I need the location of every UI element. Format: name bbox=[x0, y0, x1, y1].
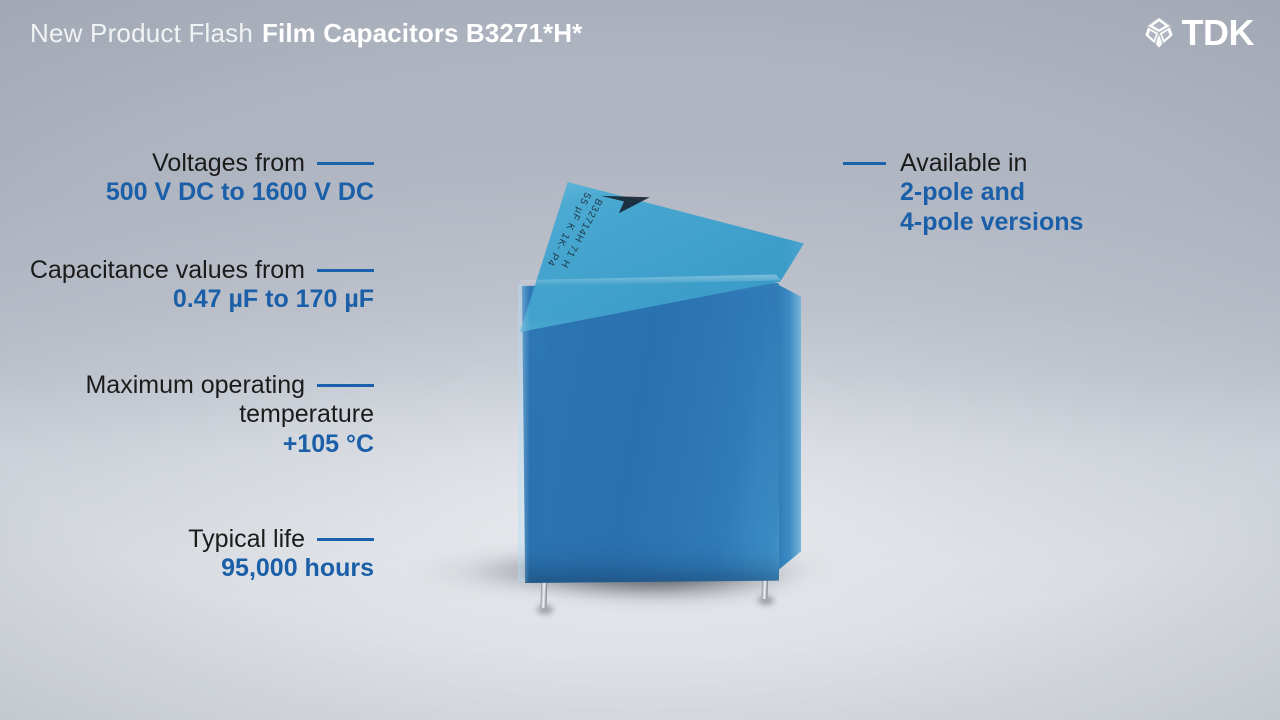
capacitor-side-face bbox=[776, 279, 801, 575]
capacitor-front-face bbox=[521, 283, 779, 583]
callout-capacitance: Capacitance values from 0.47 µF to 170 µ… bbox=[0, 256, 374, 315]
callout-voltage-value: 500 V DC to 1600 V DC bbox=[106, 178, 374, 207]
callout-voltage: Voltages from 500 V DC to 1600 V DC bbox=[0, 149, 374, 208]
page-title-prefix: New Product Flash bbox=[30, 18, 253, 49]
callout-typical-life-value: 95,000 hours bbox=[221, 554, 374, 583]
tdk-logo: TDK bbox=[1140, 14, 1255, 52]
leader-line-icon bbox=[317, 162, 374, 165]
tdk-diamond-icon bbox=[1140, 14, 1178, 52]
tdk-wordmark: TDK bbox=[1182, 14, 1255, 52]
leader-line-icon bbox=[317, 384, 374, 387]
callout-voltage-label: Voltages from bbox=[152, 149, 305, 178]
page-title: Film Capacitors B3271*H* bbox=[262, 18, 582, 49]
film-capacitor-box: B32714H 71 H 55 µF K 1K- P4 bbox=[480, 150, 820, 620]
callout-poles-label: Available in bbox=[900, 149, 1027, 178]
callout-poles-value-line2: 4-pole versions bbox=[900, 208, 1083, 237]
leader-line-icon bbox=[843, 162, 886, 165]
callout-temperature-label-line1: Maximum operating bbox=[85, 371, 305, 400]
callout-capacitance-label: Capacitance values from bbox=[30, 256, 305, 285]
callout-temperature-value: +105 °C bbox=[283, 430, 374, 459]
leader-line-icon bbox=[317, 269, 374, 272]
callout-temperature-label-line2: temperature bbox=[239, 400, 374, 429]
header: New Product Flash Film Capacitors B3271*… bbox=[30, 18, 582, 49]
callout-poles: Available in 2-pole and 4-pole versions bbox=[843, 149, 1263, 237]
callout-poles-value-line1: 2-pole and bbox=[900, 178, 1025, 207]
callout-typical-life: Typical life 95,000 hours bbox=[0, 525, 374, 584]
callout-temperature: Maximum operating temperature +105 °C bbox=[0, 371, 374, 459]
callout-capacitance-value: 0.47 µF to 170 µF bbox=[173, 285, 374, 314]
callout-typical-life-label: Typical life bbox=[188, 525, 305, 554]
leader-line-icon bbox=[317, 538, 374, 541]
